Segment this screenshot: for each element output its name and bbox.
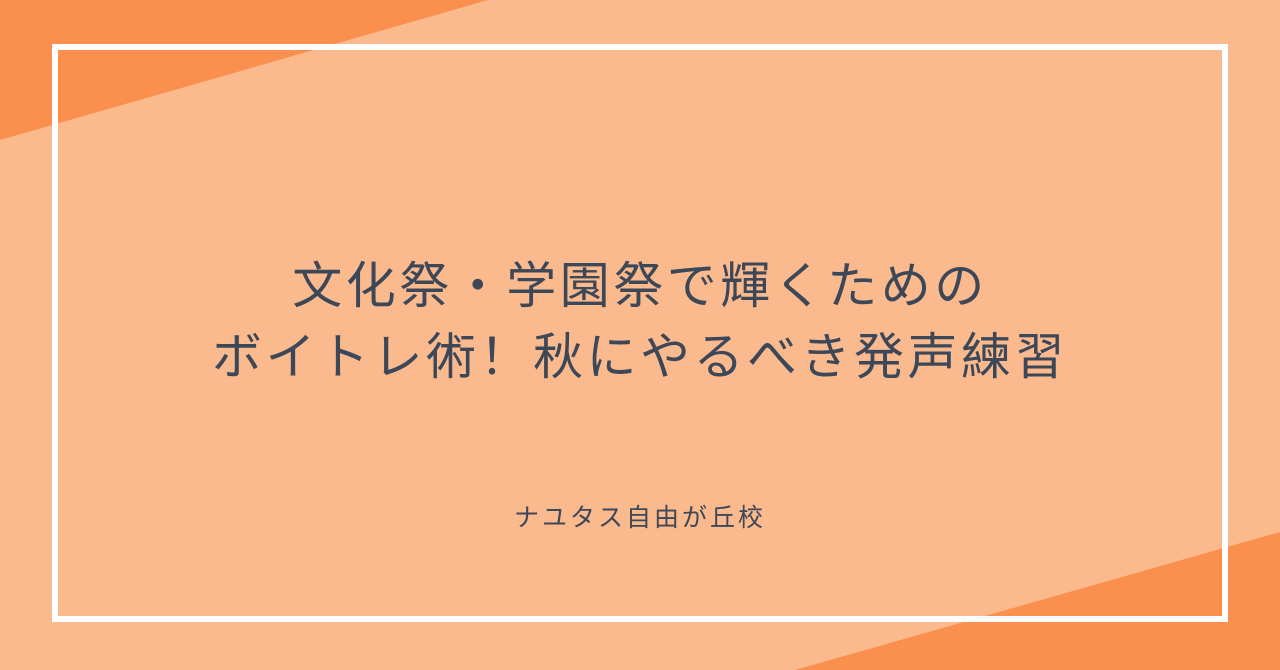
banner-subtitle: ナユタス自由が丘校: [0, 498, 1280, 534]
banner-content: 文化祭・学園祭で輝くための ボイトレ術！秋にやるべき発声練習 ナユタス自由が丘校: [0, 0, 1280, 670]
banner-title-line-2: ボイトレ術！秋にやるべき発声練習: [212, 322, 1068, 393]
banner-title-line-1: 文化祭・学園祭で輝くための: [212, 251, 1068, 322]
banner-title: 文化祭・学園祭で輝くための ボイトレ術！秋にやるべき発声練習: [212, 251, 1068, 393]
ogp-banner: 文化祭・学園祭で輝くための ボイトレ術！秋にやるべき発声練習 ナユタス自由が丘校: [0, 0, 1280, 670]
